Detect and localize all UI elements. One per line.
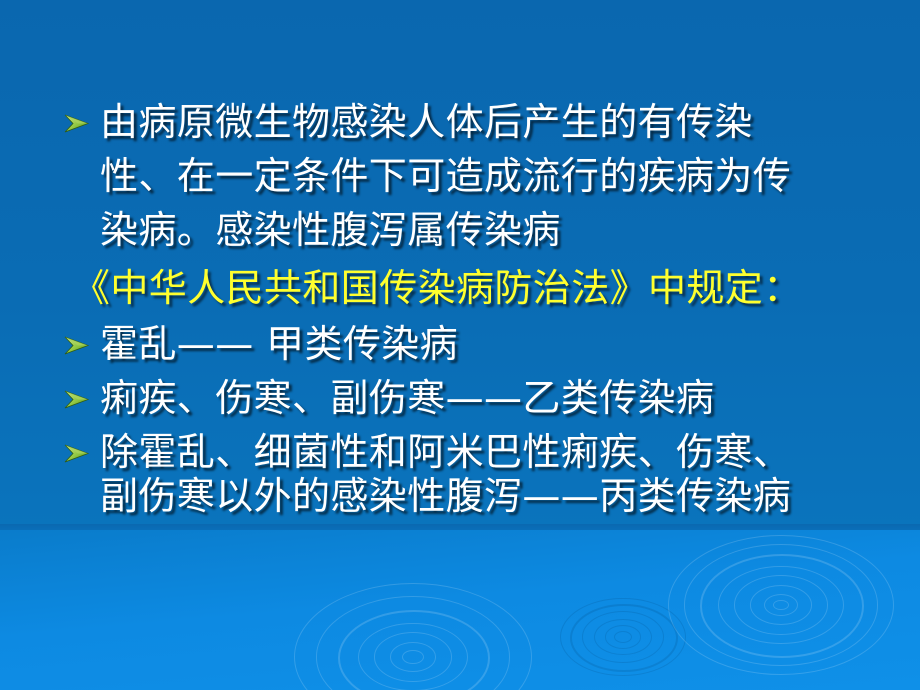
highlighted-text-line: 《中华人民共和国传染病防治法》中规定： xyxy=(72,269,802,307)
green-arrow-bullet-icon xyxy=(64,112,90,136)
body-text-line: 性、在一定条件下可造成流行的疾病为传 xyxy=(100,157,791,195)
body-text-line: 副伤寒以外的感染性腹泻——丙类传染病 xyxy=(100,477,791,515)
slide-content: 由病原微生物感染人体后产生的有传染性、在一定条件下可造成流行的疾病为传染病。感染… xyxy=(0,0,920,690)
body-text-line: 除霍乱、细菌性和阿米巴性痢疾、伤寒、 xyxy=(100,433,791,471)
green-arrow-bullet-icon xyxy=(64,442,90,466)
body-text-line: 染病。感染性腹泻属传染病 xyxy=(100,211,561,249)
body-text-line: 由病原微生物感染人体后产生的有传染 xyxy=(100,103,753,141)
slide-canvas: 由病原微生物感染人体后产生的有传染性、在一定条件下可造成流行的疾病为传染病。感染… xyxy=(0,0,920,690)
body-text-line: 霍乱—— 甲类传染病 xyxy=(100,325,458,363)
green-arrow-bullet-icon xyxy=(64,334,90,358)
green-arrow-bullet-icon xyxy=(64,388,90,412)
body-text-line: 痢疾、伤寒、副伤寒——乙类传染病 xyxy=(100,379,714,417)
